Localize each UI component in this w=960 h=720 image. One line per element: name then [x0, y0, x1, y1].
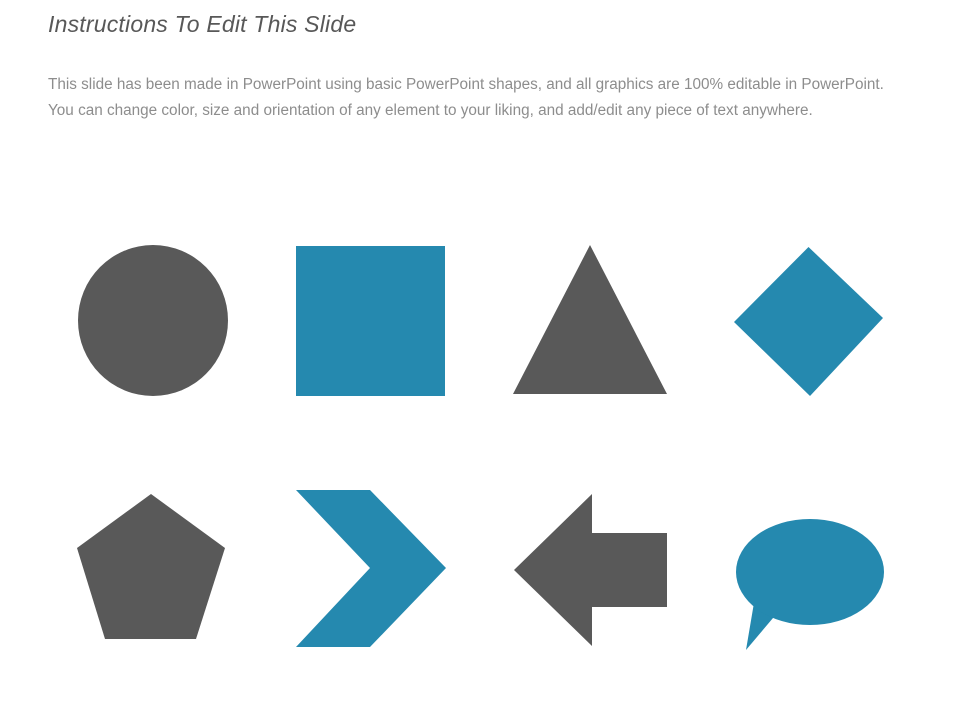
- slide-canvas: Instructions To Edit This Slide This sli…: [0, 0, 960, 720]
- diamond-shape[interactable]: [734, 246, 883, 397]
- pentagon-shape[interactable]: [77, 494, 225, 639]
- speech-bubble-shape[interactable]: [736, 519, 884, 650]
- chevron-right-shape[interactable]: [296, 490, 446, 647]
- triangle-shape-fill: [513, 245, 667, 394]
- square-shape-fill: [296, 246, 445, 396]
- body-copy: This slide has been made in PowerPoint u…: [48, 72, 888, 123]
- circle-shape[interactable]: [78, 245, 228, 396]
- arrow-left-shape[interactable]: [514, 494, 667, 646]
- chevron-right-shape-fill: [296, 490, 446, 647]
- page-title: Instructions To Edit This Slide: [48, 11, 356, 38]
- body-paragraph-2: You can change color, size and orientati…: [48, 98, 888, 124]
- pentagon-shape-fill: [77, 494, 225, 639]
- body-paragraph-1: This slide has been made in PowerPoint u…: [48, 72, 888, 98]
- diamond-shape-fill: [734, 247, 883, 396]
- arrow-left-shape-fill: [514, 494, 667, 646]
- speech-bubble-shape-fill: [736, 519, 884, 650]
- circle-shape-fill: [78, 245, 228, 396]
- triangle-shape[interactable]: [513, 245, 667, 394]
- square-shape[interactable]: [296, 246, 445, 396]
